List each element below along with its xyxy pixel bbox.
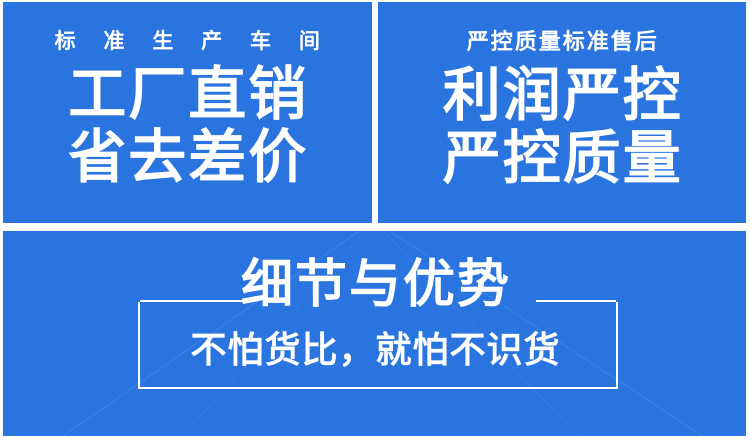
- panel-left-headline-line1: 工厂直销: [66, 65, 308, 124]
- panel-factory-direct: 标 准 生 产 车 间 工厂直销 省去差价: [3, 2, 372, 223]
- top-panel-row: 标 准 生 产 车 间 工厂直销 省去差价 严控质量标准售后 利润严控 严控质量: [3, 2, 746, 223]
- panel-right-headline-line2: 严控质量: [441, 129, 683, 188]
- panel-right-headline-line1: 利润严控: [441, 66, 683, 125]
- panel-left-headline-line2: 省去差价: [66, 128, 308, 187]
- panel-right-eyebrow: 严控质量标准售后: [465, 31, 659, 53]
- bottom-panel-subtitle: 不怕货比，就怕不识货: [0, 332, 750, 368]
- panel-left-eyebrow: 标 准 生 产 车 间: [44, 31, 331, 52]
- panel-quality-control: 严控质量标准售后 利润严控 严控质量: [378, 2, 747, 223]
- bottom-panel-title: 细节与优势: [0, 259, 750, 311]
- promo-banner: 标 准 生 产 车 间 工厂直销 省去差价 严控质量标准售后 利润严控 严控质量…: [0, 0, 750, 440]
